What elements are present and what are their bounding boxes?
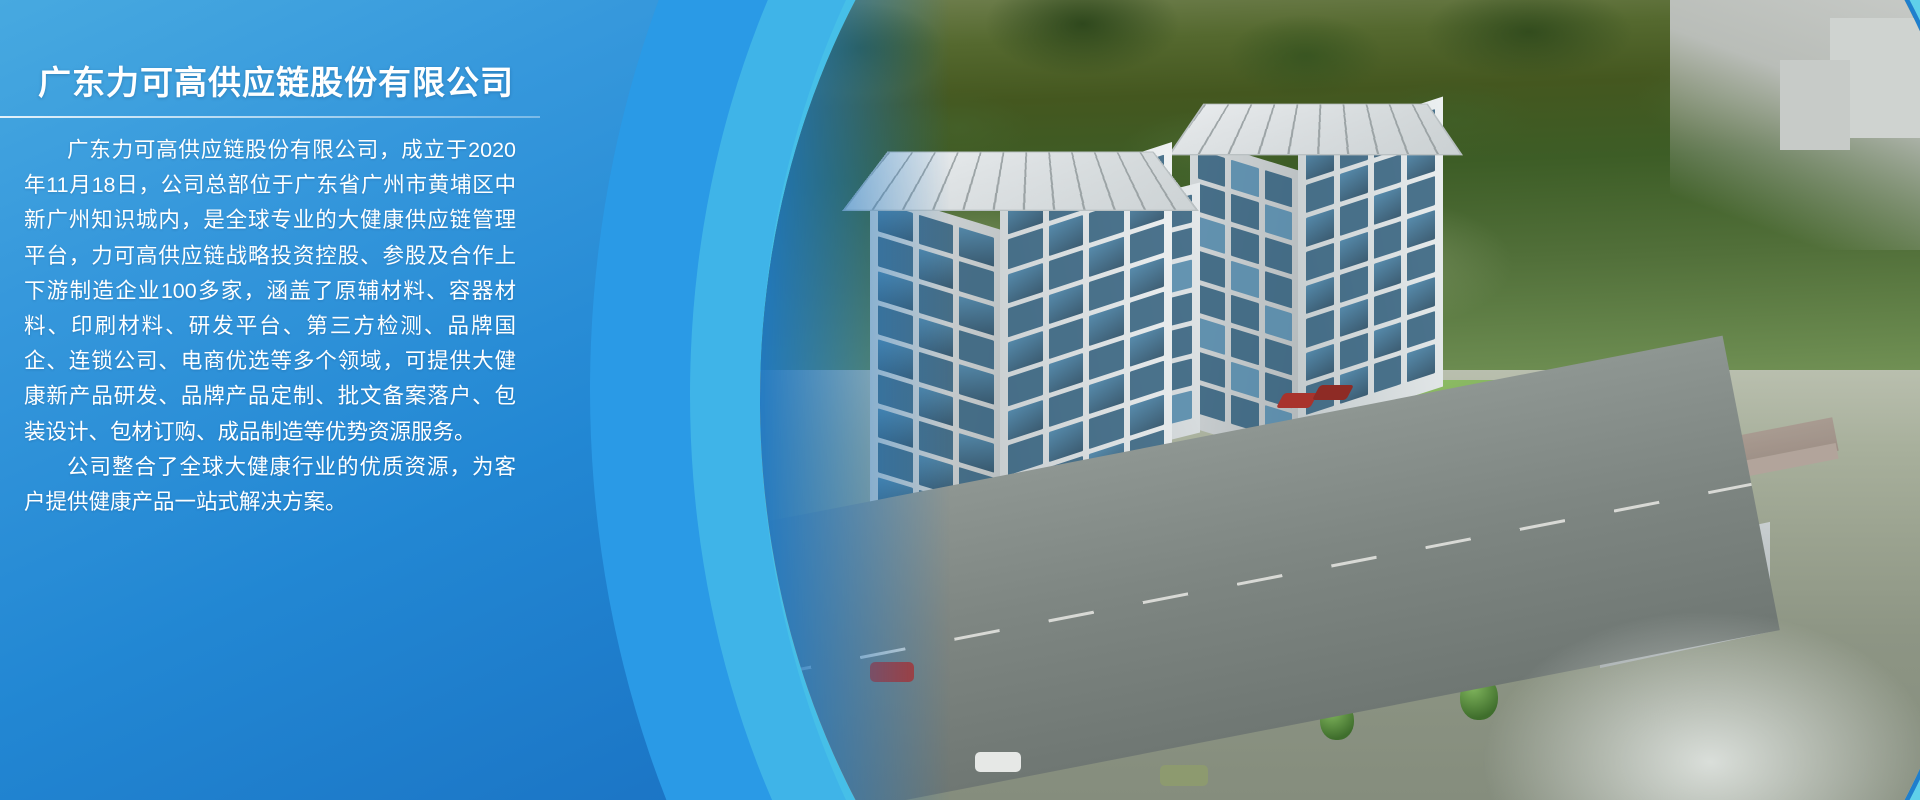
photo-left-fade (760, 0, 950, 800)
paragraph-1: 广东力可高供应链股份有限公司，成立于2020年11月18日，公司总部位于广东省广… (24, 133, 516, 450)
photo-circle-mask (760, 0, 1920, 800)
text-panel: 广东力可高供应链股份有限公司 广东力可高供应链股份有限公司，成立于2020年11… (0, 0, 620, 800)
aerial-park-photo (760, 0, 1920, 800)
car-white (975, 752, 1021, 772)
secondary-building-roof (1168, 104, 1463, 156)
car-olive (1160, 765, 1208, 786)
distant-building-3 (1780, 60, 1850, 150)
window-grid (1198, 150, 1292, 443)
atmospheric-haze (1480, 610, 1920, 800)
banner-stage: 广东力可高供应链股份有限公司 广东力可高供应链股份有限公司，成立于2020年11… (0, 0, 1920, 800)
paragraph-2: 公司整合了全球大健康行业的优质资源，为客户提供健康产品一站式解决方案。 (24, 450, 516, 520)
secondary-building (1190, 120, 1440, 410)
rooftop-truss (1171, 104, 1460, 154)
company-description: 广东力可高供应链股份有限公司，成立于2020年11月18日，公司总部位于广东省广… (24, 133, 516, 520)
page-title: 广东力可高供应链股份有限公司 (38, 56, 514, 104)
title-divider (0, 116, 540, 118)
secondary-building-left-facade (1190, 137, 1300, 461)
